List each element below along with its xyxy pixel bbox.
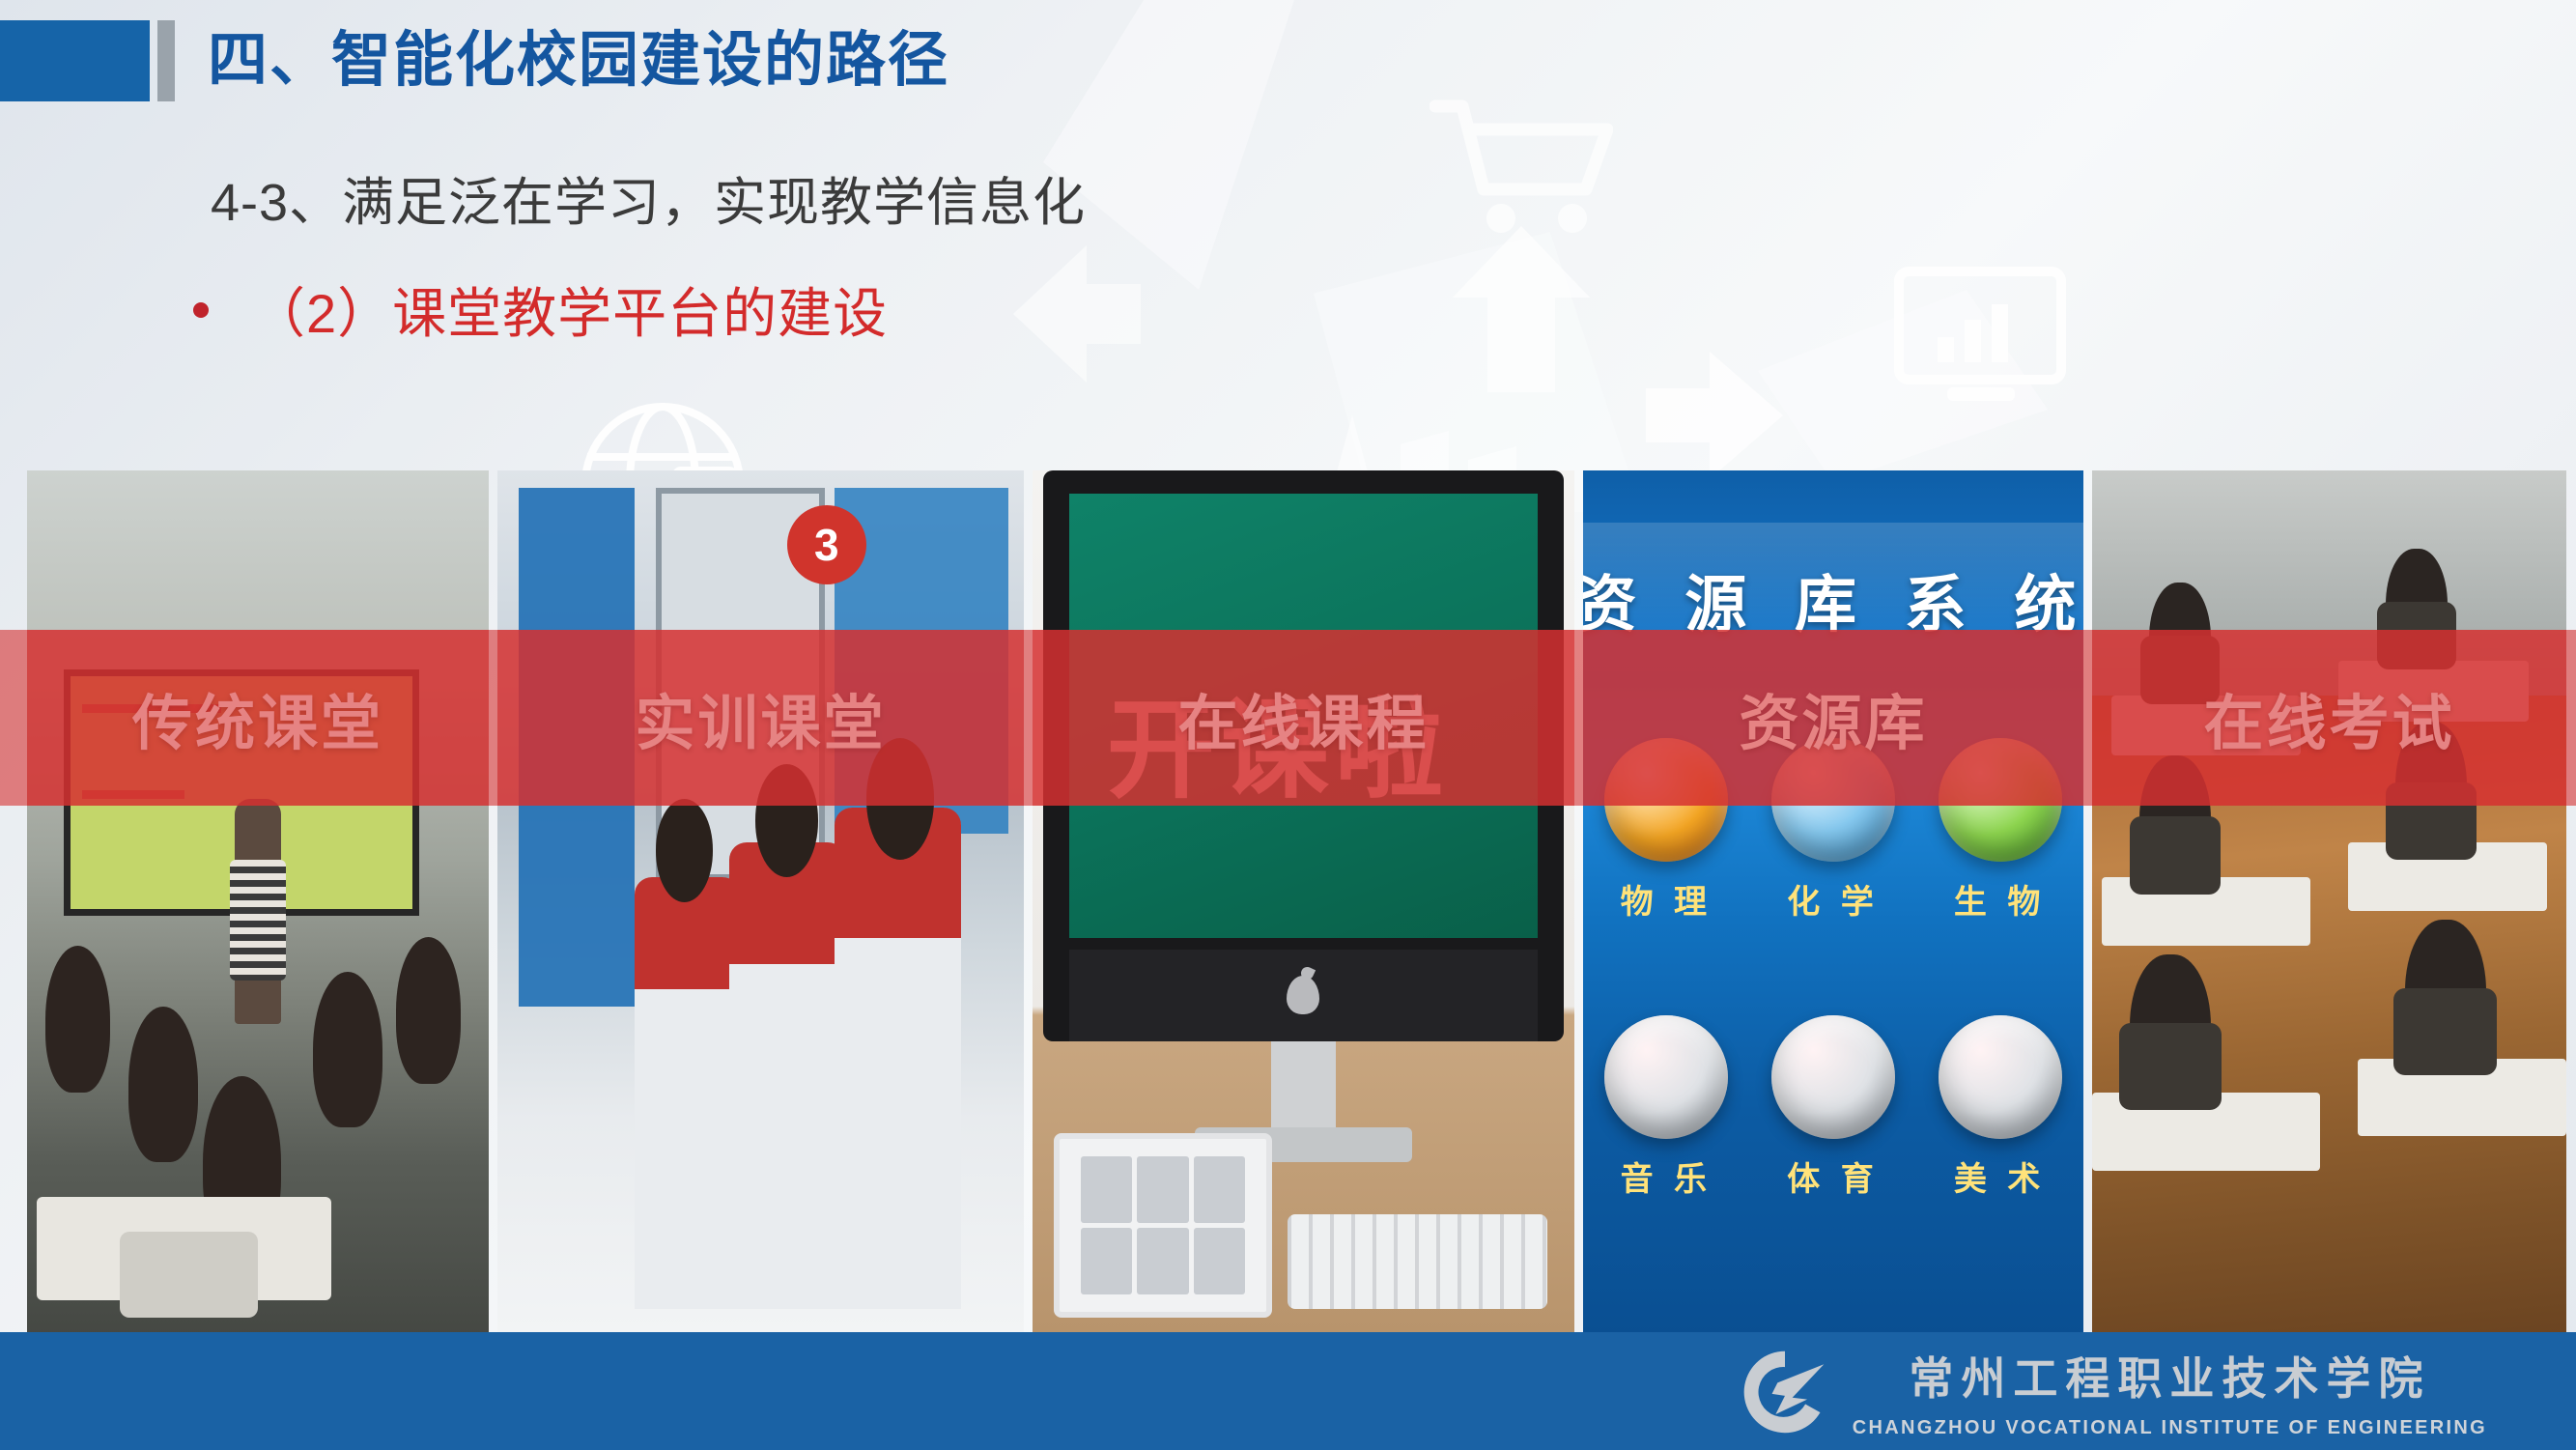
bullet-label: （2）课堂教学平台的建设 [251, 270, 888, 349]
card-art: 开课啦 [1033, 470, 1574, 1335]
section-title-row: 四、智能化校园建设的路径 [0, 19, 949, 101]
card-label-band: 传统课堂 [27, 630, 489, 806]
page-title: 四、智能化校园建设的路径 [208, 31, 949, 91]
card-art [2092, 470, 2566, 1335]
shopping-cart-icon [1430, 97, 1613, 242]
subject-label: 美 术 [1954, 1152, 2046, 1200]
card-traditional-classroom[interactable]: 传统课堂 [27, 470, 489, 1335]
card-online-exam[interactable]: 在线考试 [2092, 470, 2566, 1335]
institution-name-cn: 常州工程职业技术学院 [1909, 1344, 2430, 1407]
subject-label: 体 育 [1787, 1152, 1879, 1200]
subject-label: 生 物 [1954, 875, 2046, 923]
card-label: 资源库 [1739, 674, 1927, 761]
title-accent-block [0, 20, 150, 101]
card-training-classroom[interactable]: 3 实训课堂 [497, 470, 1024, 1335]
card-label: 传统课堂 [132, 674, 383, 761]
right-arrow-icon [1009, 242, 1145, 386]
subtitle: 4-3、满足泛在学习，实现教学信息化 [211, 159, 1086, 236]
platform-card-strip: 传统课堂 3 实训课堂 开课啦 [27, 470, 2549, 1335]
slide: 四、智能化校园建设的路径 4-3、满足泛在学习，实现教学信息化 （2）课堂教学平… [0, 0, 2576, 1450]
subject-label: 化 学 [1787, 875, 1879, 923]
card-label-band: 在线课程 [1033, 630, 1574, 806]
monitor-chart-icon [1893, 266, 2067, 411]
card-label-band: 在线考试 [2092, 630, 2566, 806]
footer-bar: 常州工程职业技术学院 CHANGZHOU VOCATIONAL INSTITUT… [0, 1332, 2576, 1450]
institution-logo: 常州工程职业技术学院 CHANGZHOU VOCATIONAL INSTITUT… [1739, 1344, 2487, 1439]
institution-name-en: CHANGZHOU VOCATIONAL INSTITUTE OF ENGINE… [1853, 1417, 2487, 1439]
card-resource-library[interactable]: 资 源 库 系 统 物 理 化 学 生 物 音 乐 体 育 美 术 资源库 [1583, 470, 2083, 1335]
subject-label: 物 理 [1621, 875, 1713, 923]
card-art: 资 源 库 系 统 物 理 化 学 生 物 音 乐 体 育 美 术 [1583, 470, 2083, 1335]
card-art: 3 [497, 470, 1024, 1335]
apple-logo-icon [1287, 976, 1319, 1014]
title-accent-bar [157, 20, 175, 101]
right-arrow-icon [1642, 348, 1787, 483]
card-online-course[interactable]: 开课啦 在线课程 [1033, 470, 1574, 1335]
card-label-band: 资源库 [1583, 630, 2083, 806]
institute-emblem-icon [1739, 1346, 1831, 1438]
subject-label: 音 乐 [1621, 1152, 1713, 1200]
card-art [27, 470, 489, 1335]
card-label-band: 实训课堂 [497, 630, 1024, 806]
up-arrow-icon [1449, 222, 1594, 396]
bullet-dot-icon [193, 302, 209, 318]
bullet-item: （2）课堂教学平台的建设 [193, 270, 888, 349]
card-label: 在线考试 [2203, 674, 2454, 761]
card-label: 在线课程 [1177, 674, 1429, 761]
card-badge: 3 [787, 505, 866, 584]
card-label: 实训课堂 [635, 674, 886, 761]
